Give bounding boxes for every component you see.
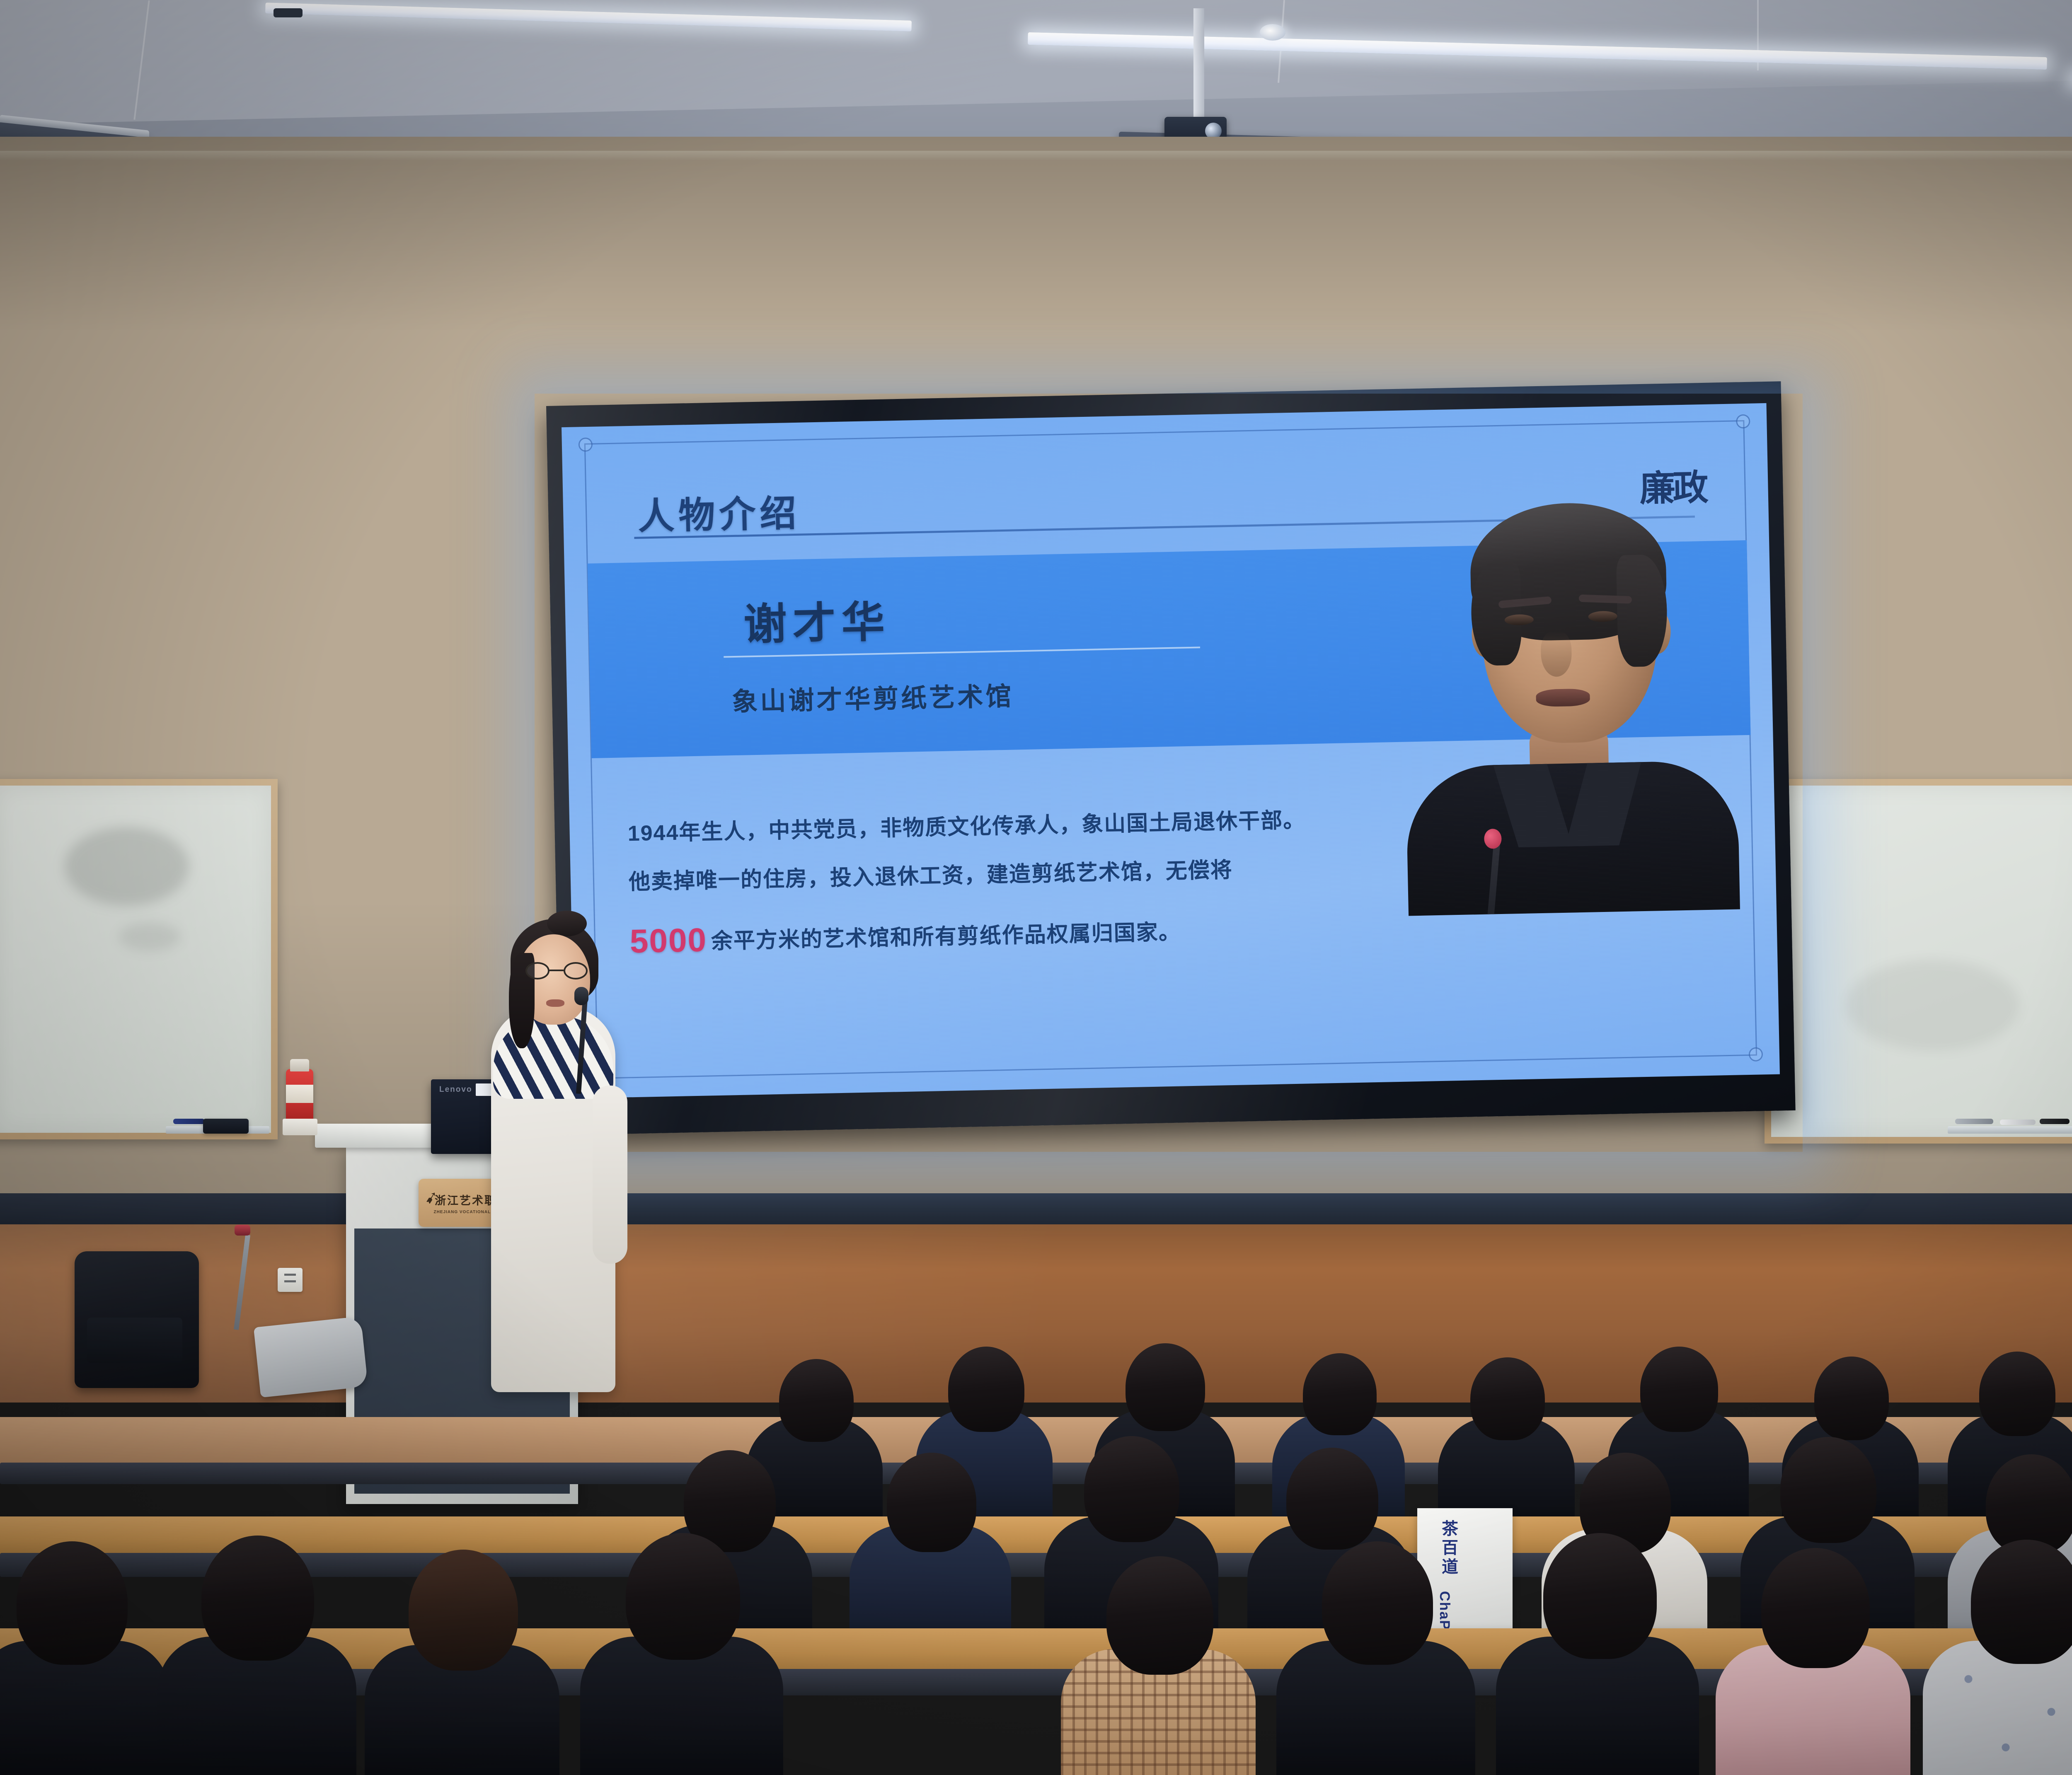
whiteboard-marker[interactable] xyxy=(173,1119,205,1124)
presenter-arm xyxy=(593,1086,627,1264)
ceiling-vent xyxy=(274,8,303,17)
whiteboard-left-surface xyxy=(0,786,271,1133)
whiteboard-eraser[interactable] xyxy=(1955,1119,1993,1124)
bottle-label xyxy=(286,1085,313,1103)
presenter-glasses-icon xyxy=(525,962,588,979)
lecture-hall-scene: 人物介绍 廉政 谢才华 象山谢才华剪纸艺术馆 xyxy=(0,0,2072,1775)
whiteboard-smudge xyxy=(119,922,181,951)
audience-head xyxy=(948,1347,1024,1432)
backpack-front-pocket xyxy=(87,1318,182,1363)
whiteboard-right-surface xyxy=(1771,786,2072,1137)
audience-head xyxy=(1979,1352,2055,1436)
glasses-bridge xyxy=(549,970,564,971)
bottle-holder xyxy=(283,1119,317,1135)
slide-paragraph-3-wrap: 5000余平方米的艺术馆和所有剪纸作品权属归国家。 xyxy=(629,897,1418,970)
projection-screen: 人物介绍 廉政 谢才华 象山谢才华剪纸艺术馆 xyxy=(546,381,1796,1135)
audience-head xyxy=(1303,1353,1377,1435)
glasses-lens xyxy=(564,962,588,979)
wall-power-outlet[interactable] xyxy=(278,1268,303,1292)
dancer-bird-icon: ➹ xyxy=(423,1187,440,1208)
slide-paragraph-2: 他卖掉唯一的住房，投入退休工资，建造剪纸艺术馆，无偿将 xyxy=(628,849,1416,902)
microphone-head xyxy=(574,987,588,1005)
person-organisation: 象山谢才华剪纸艺术馆 xyxy=(731,675,1014,718)
whiteboard-marker[interactable] xyxy=(2040,1119,2070,1124)
audience-head xyxy=(1780,1437,1876,1543)
audience-head xyxy=(1286,1448,1378,1550)
corner-dot-icon xyxy=(1736,414,1750,429)
audience-head xyxy=(1084,1436,1179,1542)
audience-head xyxy=(779,1359,854,1442)
corner-dot-icon xyxy=(579,438,593,452)
audience-head xyxy=(201,1536,314,1661)
audience-head xyxy=(1543,1533,1657,1659)
audience-head xyxy=(626,1533,740,1660)
slide-highlight-number: 5000 xyxy=(629,921,707,960)
audience-head xyxy=(409,1550,518,1671)
audience-head xyxy=(1640,1347,1718,1432)
audience-head xyxy=(1106,1556,1213,1675)
wall-baseboard xyxy=(0,1193,2072,1226)
slide-body-text: 1944年生人，中共党员，非物质文化传承人，象山国土局退休干部。 他卖掉唯一的住… xyxy=(627,800,1418,982)
corner-dot-icon xyxy=(1749,1047,1763,1062)
bottle-cap[interactable] xyxy=(290,1059,309,1071)
audience-head xyxy=(1814,1357,1889,1440)
presenter-mouth xyxy=(546,999,564,1007)
audience-head xyxy=(17,1541,128,1665)
audience-head xyxy=(1470,1357,1545,1440)
audience-head xyxy=(1126,1343,1205,1431)
slide-section-title: 人物介绍 xyxy=(637,484,801,540)
whiteboard-marker[interactable] xyxy=(2000,1120,2036,1125)
powerpoint-slide: 人物介绍 廉政 谢才华 象山谢才华剪纸艺术馆 xyxy=(562,403,1780,1098)
silver-umbrella[interactable] xyxy=(254,1316,368,1398)
smartphone-on-ledge[interactable] xyxy=(203,1119,249,1134)
glasses-lens xyxy=(525,962,549,979)
portrait-mouth xyxy=(1536,689,1590,707)
whiteboard-left xyxy=(0,779,278,1139)
audience-head xyxy=(1322,1541,1433,1665)
person-name: 谢才华 xyxy=(743,586,891,652)
monitor-brand-label: Lenovo xyxy=(439,1085,472,1094)
whiteboard-right xyxy=(1765,779,2072,1144)
slide-surface: 人物介绍 廉政 谢才华 象山谢才华剪纸艺术馆 xyxy=(562,403,1780,1098)
recessed-downlight xyxy=(1260,24,1285,41)
audience-head xyxy=(1761,1548,1870,1668)
whiteboard-smudge xyxy=(65,827,189,906)
umbrella-tip xyxy=(235,1225,250,1236)
subject-portrait-photo xyxy=(1375,470,1744,916)
marker-tray-right xyxy=(1948,1126,2072,1134)
slide-paragraph-3: 余平方米的艺术馆和所有剪纸作品权属归国家。 xyxy=(711,920,1181,953)
audience-head xyxy=(887,1453,976,1552)
whiteboard-smudge xyxy=(1846,960,2020,1051)
drink-bag-brand-cn: 茶百道 xyxy=(1436,1520,1460,1577)
presenter-hair-bun xyxy=(547,911,587,936)
